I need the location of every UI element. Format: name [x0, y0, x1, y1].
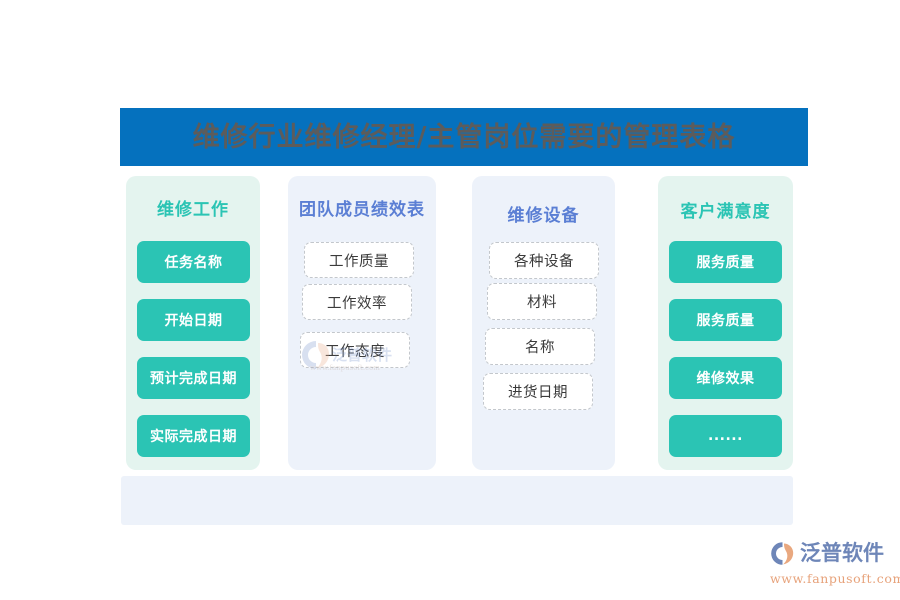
- bottom-filler-panel: [121, 476, 793, 525]
- pill-repair-effect[interactable]: 维修效果: [669, 357, 782, 399]
- title-banner: 维修行业维修经理/主管岗位需要的管理表格: [120, 108, 808, 166]
- pill-material[interactable]: 材料: [487, 283, 597, 320]
- fanpu-logo-icon: [768, 539, 797, 568]
- column-customer-satisfaction: 客户满意度 服务质量 服务质量 维修效果 ......: [658, 176, 793, 470]
- pill-name[interactable]: 名称: [485, 328, 595, 365]
- pill-service-quality-2[interactable]: 服务质量: [669, 299, 782, 341]
- column-repair-equipment: 维修设备 各种设备 材料 名称 进货日期: [472, 176, 615, 470]
- column-header-repair-work: 维修工作: [126, 202, 260, 219]
- column-header-repair-equipment: 维修设备: [472, 208, 615, 225]
- column-repair-work: 维修工作 任务名称 开始日期 预计完成日期 实际完成日期: [126, 176, 260, 470]
- pill-work-efficiency[interactable]: 工作效率: [302, 284, 412, 320]
- pill-service-quality-1[interactable]: 服务质量: [669, 241, 782, 283]
- pill-purchase-date[interactable]: 进货日期: [483, 373, 593, 410]
- infographic-canvas: 维修行业维修经理/主管岗位需要的管理表格 维修工作 任务名称 开始日期 预计完成…: [0, 0, 900, 600]
- brand-logo-row: 泛普软件: [768, 538, 896, 569]
- brand-logo: 泛普软件 www.fanpusoft.com: [768, 538, 896, 590]
- column-team-performance: 团队成员绩效表 工作质量 工作效率 工作态度: [288, 176, 436, 470]
- pill-start-date[interactable]: 开始日期: [137, 299, 250, 341]
- brand-url: www.fanpusoft.com: [770, 571, 896, 586]
- page-title: 维修行业维修经理/主管岗位需要的管理表格: [193, 124, 736, 151]
- pill-work-quality[interactable]: 工作质量: [304, 242, 414, 278]
- pill-actual-completion-date[interactable]: 实际完成日期: [137, 415, 250, 457]
- column-header-team-performance: 团队成员绩效表: [288, 202, 436, 219]
- brand-name: 泛普软件: [800, 543, 884, 564]
- column-header-customer-satisfaction: 客户满意度: [658, 204, 793, 221]
- pill-work-attitude[interactable]: 工作态度: [300, 332, 410, 368]
- pill-estimated-completion-date[interactable]: 预计完成日期: [137, 357, 250, 399]
- pill-more-ellipsis[interactable]: ......: [669, 415, 782, 457]
- pill-various-equipment[interactable]: 各种设备: [489, 242, 599, 279]
- pill-task-name[interactable]: 任务名称: [137, 241, 250, 283]
